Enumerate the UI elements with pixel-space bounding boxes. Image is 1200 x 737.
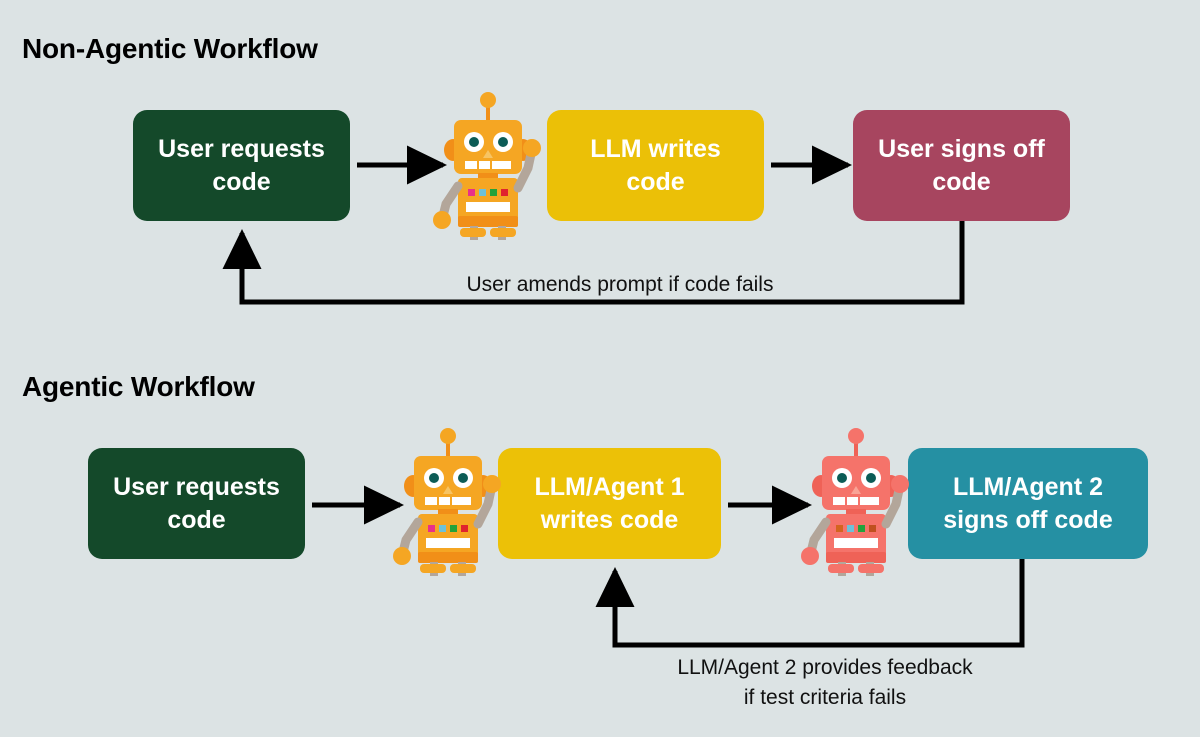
node-llm-agent-2-signs-off-code[interactable]: LLM/Agent 2 signs off code (908, 448, 1148, 559)
robot-orange-1-icon (432, 92, 544, 240)
node-user-signs-off-code[interactable]: User signs off code (853, 110, 1070, 221)
section-title-agentic: Agentic Workflow (22, 371, 255, 403)
robot-orange-2-icon (392, 428, 504, 576)
diagram-canvas: Non-Agentic Workflow Agentic Workflow Us… (0, 0, 1200, 737)
node-llm-agent-1-writes-code[interactable]: LLM/Agent 1 writes code (498, 448, 721, 559)
robot-pink-1-icon (800, 428, 912, 576)
node-user-requests-code-2[interactable]: User requests code (88, 448, 305, 559)
section-title-non-agentic: Non-Agentic Workflow (22, 33, 318, 65)
feedback-caption-non-agentic: User amends prompt if code fails (300, 270, 940, 300)
node-user-requests-code-1[interactable]: User requests code (133, 110, 350, 221)
feedback-caption-agentic: LLM/Agent 2 provides feedback if test cr… (545, 653, 1105, 714)
node-llm-writes-code[interactable]: LLM writes code (547, 110, 764, 221)
